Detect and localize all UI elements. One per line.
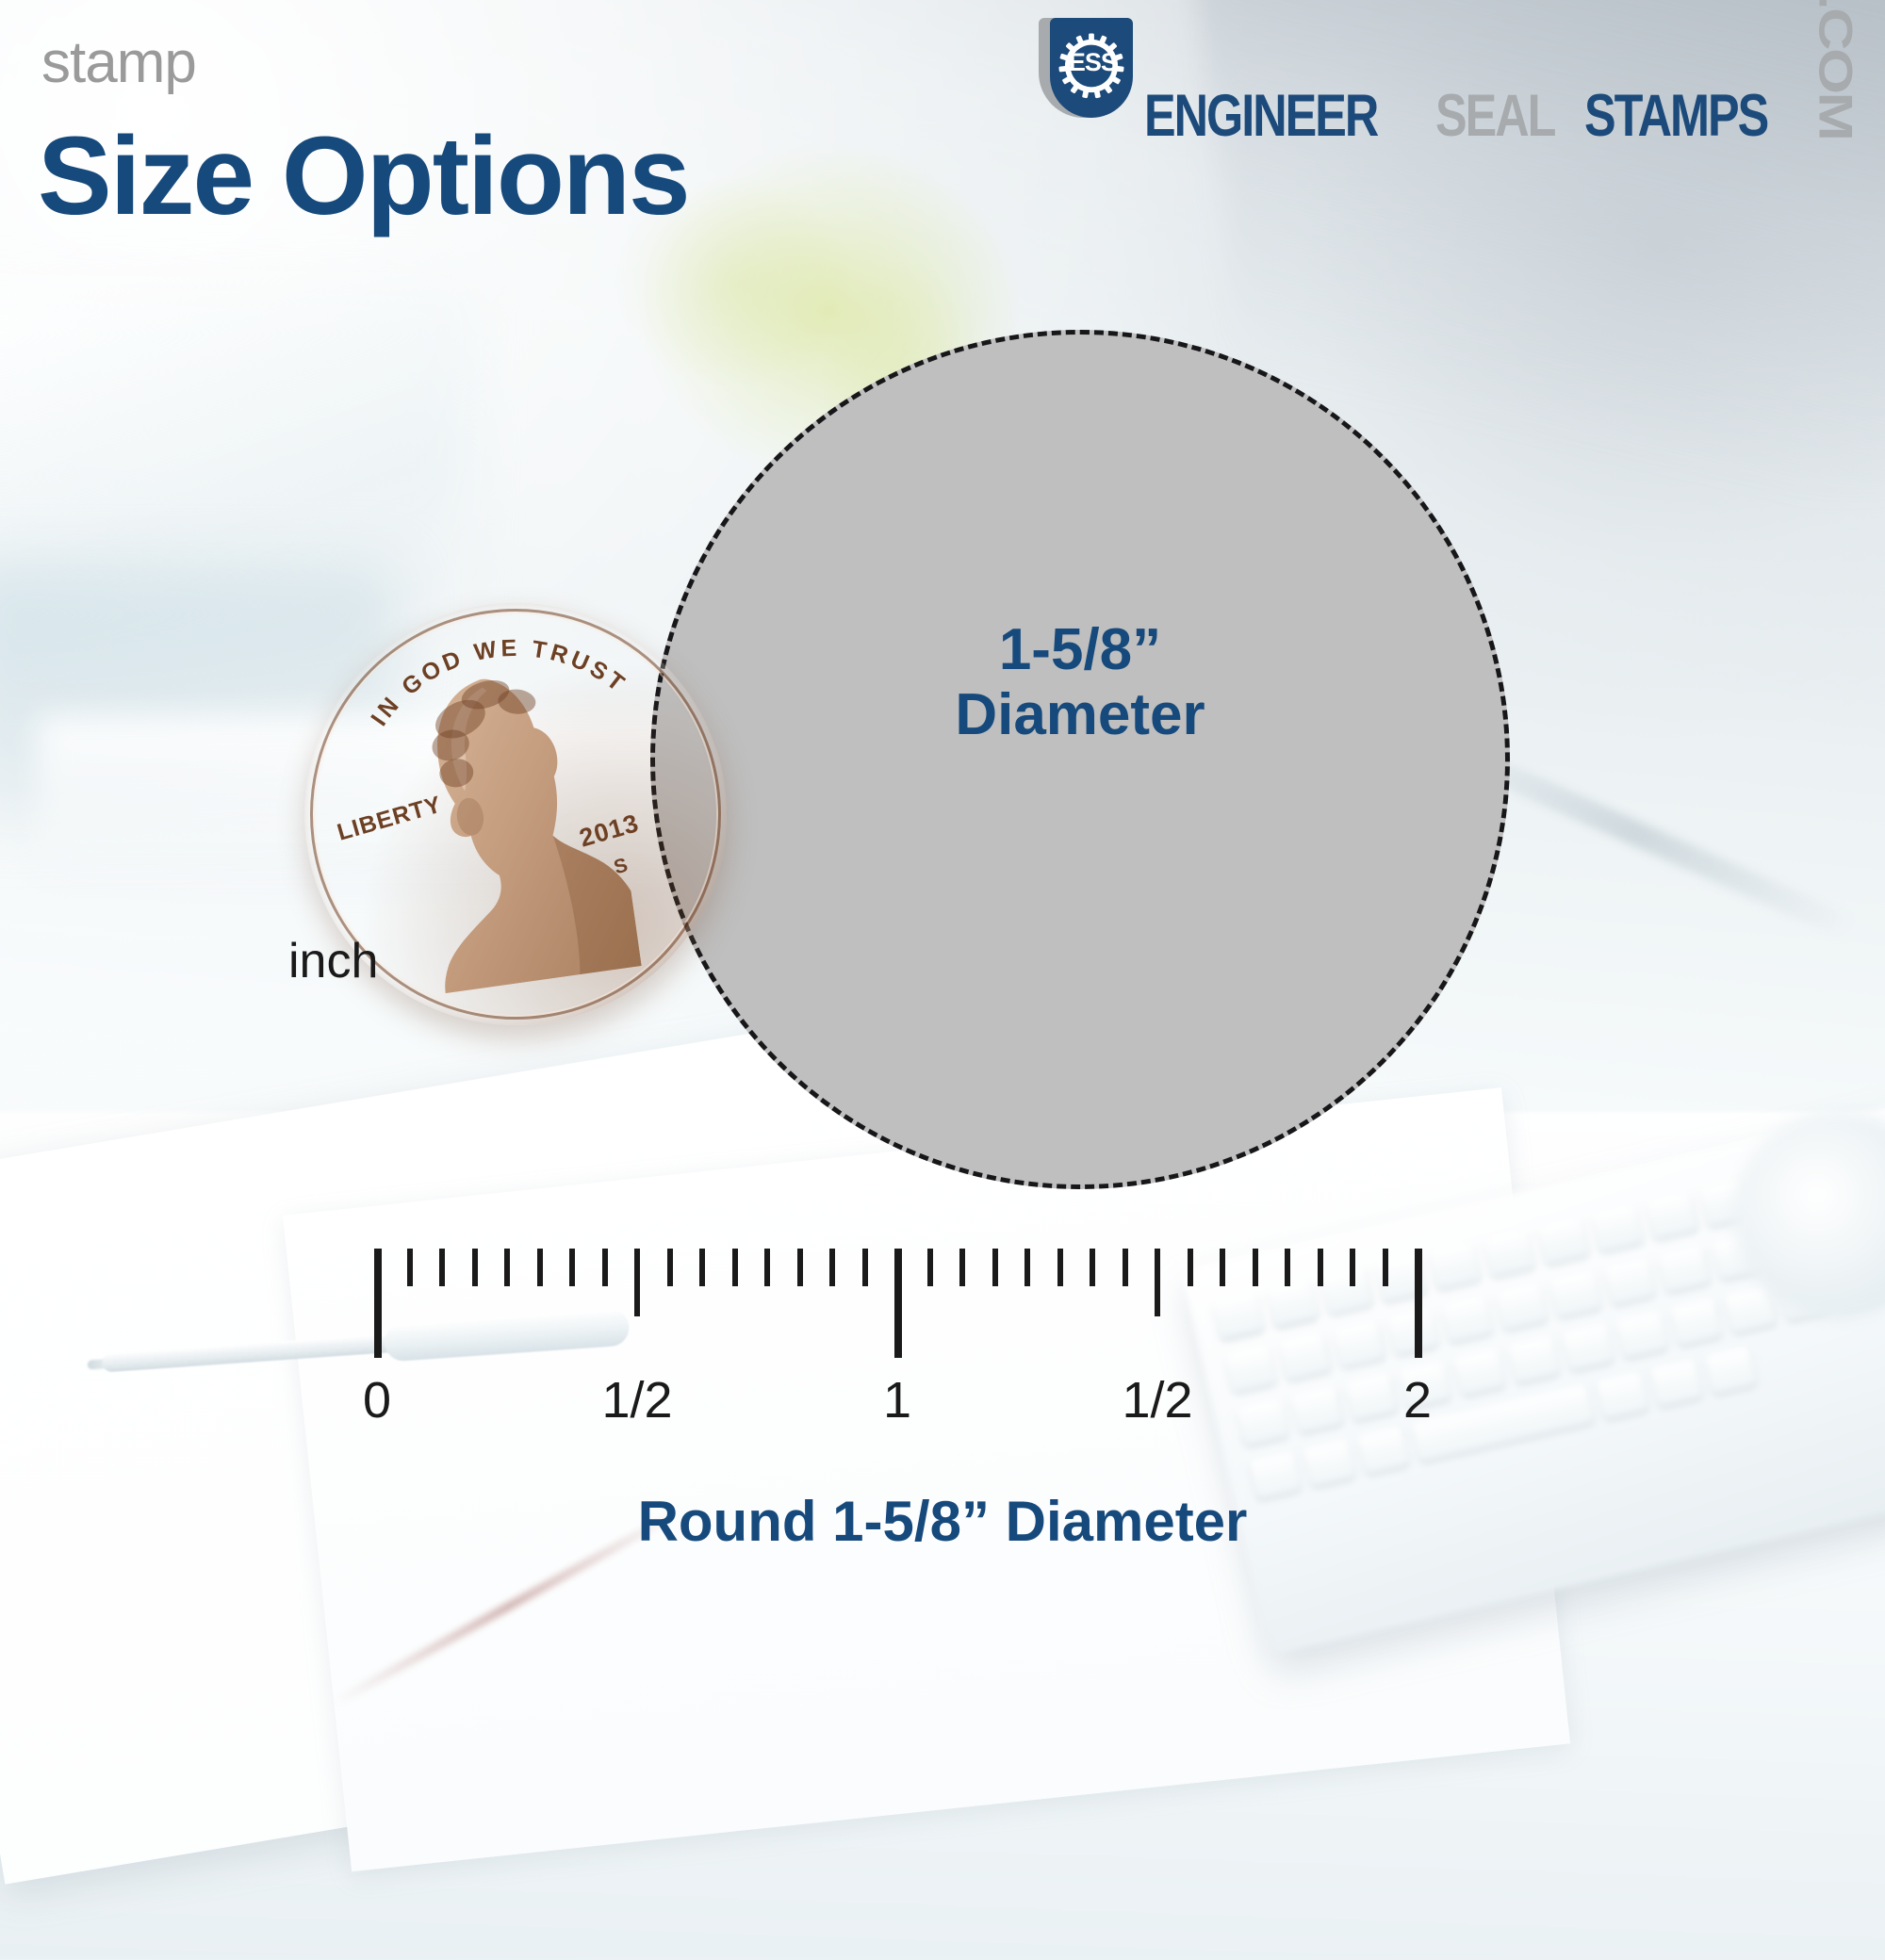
- ruler-tick: [797, 1249, 803, 1286]
- ruler-tick: [732, 1249, 738, 1286]
- ruler-tick: [439, 1249, 445, 1286]
- ruler-tick: [1155, 1249, 1160, 1316]
- ruler-tick: [992, 1249, 998, 1286]
- ruler-number-label: 1/2: [1122, 1371, 1192, 1429]
- ruler-tick: [1383, 1249, 1388, 1286]
- ruler-tick: [1057, 1249, 1063, 1286]
- ruler-tick: [829, 1249, 835, 1286]
- ruler-tick: [1318, 1249, 1323, 1286]
- ruler-tick: [959, 1249, 965, 1286]
- ruler-number-label: 2: [1403, 1371, 1432, 1429]
- ruler-tick: [1415, 1249, 1422, 1358]
- ruler-tick: [1024, 1249, 1030, 1286]
- ruler-tick: [699, 1249, 705, 1286]
- ruler-tick: [764, 1249, 770, 1286]
- ruler-tick: [1090, 1249, 1095, 1286]
- inch-ruler: inch 01/211/22: [0, 0, 1885, 1885]
- ruler-tick: [862, 1249, 868, 1286]
- ruler-tick: [602, 1249, 608, 1286]
- ruler-tick: [569, 1249, 575, 1286]
- ruler-tick: [407, 1249, 413, 1286]
- ruler-tick: [894, 1249, 902, 1358]
- size-caption: Round 1-5/8” Diameter: [0, 1489, 1885, 1554]
- ruler-tick: [1188, 1249, 1193, 1286]
- ruler-tick: [1285, 1249, 1290, 1286]
- ruler-tick: [374, 1249, 382, 1358]
- ruler-tick: [927, 1249, 933, 1286]
- ruler-number-label: 1: [883, 1371, 911, 1429]
- ruler-tick: [667, 1249, 673, 1286]
- ruler-tick: [1123, 1249, 1128, 1286]
- ruler-number-label: 0: [363, 1371, 391, 1429]
- ruler-tick: [537, 1249, 543, 1286]
- ruler-tick: [1220, 1249, 1225, 1286]
- ruler-tick: [634, 1249, 640, 1316]
- ruler-tick: [504, 1249, 510, 1286]
- ruler-tick: [1253, 1249, 1258, 1286]
- ruler-unit-label: inch: [288, 933, 378, 989]
- ruler-tick: [472, 1249, 478, 1286]
- ruler-number-label: 1/2: [601, 1371, 672, 1429]
- ruler-tick: [1350, 1249, 1355, 1286]
